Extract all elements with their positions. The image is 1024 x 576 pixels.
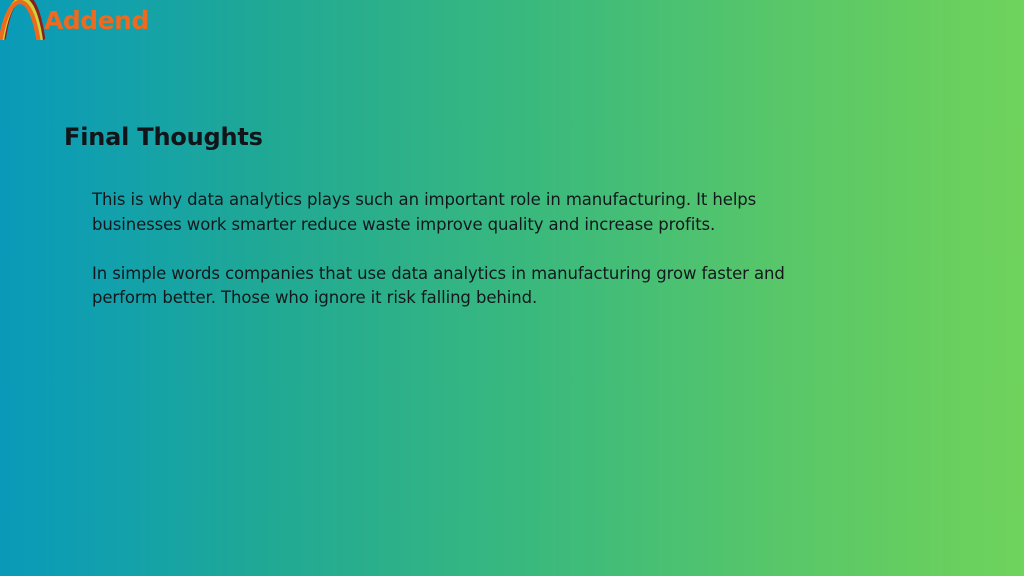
bell-curve-arcs-logo-icon — [0, 0, 46, 40]
body-text-block: This is why data analytics plays such an… — [92, 188, 822, 311]
brand-wordmark: Addend — [44, 8, 149, 33]
slide-canvas: Addend Final Thoughts This is why data a… — [0, 0, 1024, 576]
paragraph-2: In simple words companies that use data … — [92, 262, 822, 311]
paragraph-1: This is why data analytics plays such an… — [92, 188, 822, 237]
brand-logo[interactable]: Addend — [0, 0, 149, 40]
page-title: Final Thoughts — [64, 122, 263, 152]
